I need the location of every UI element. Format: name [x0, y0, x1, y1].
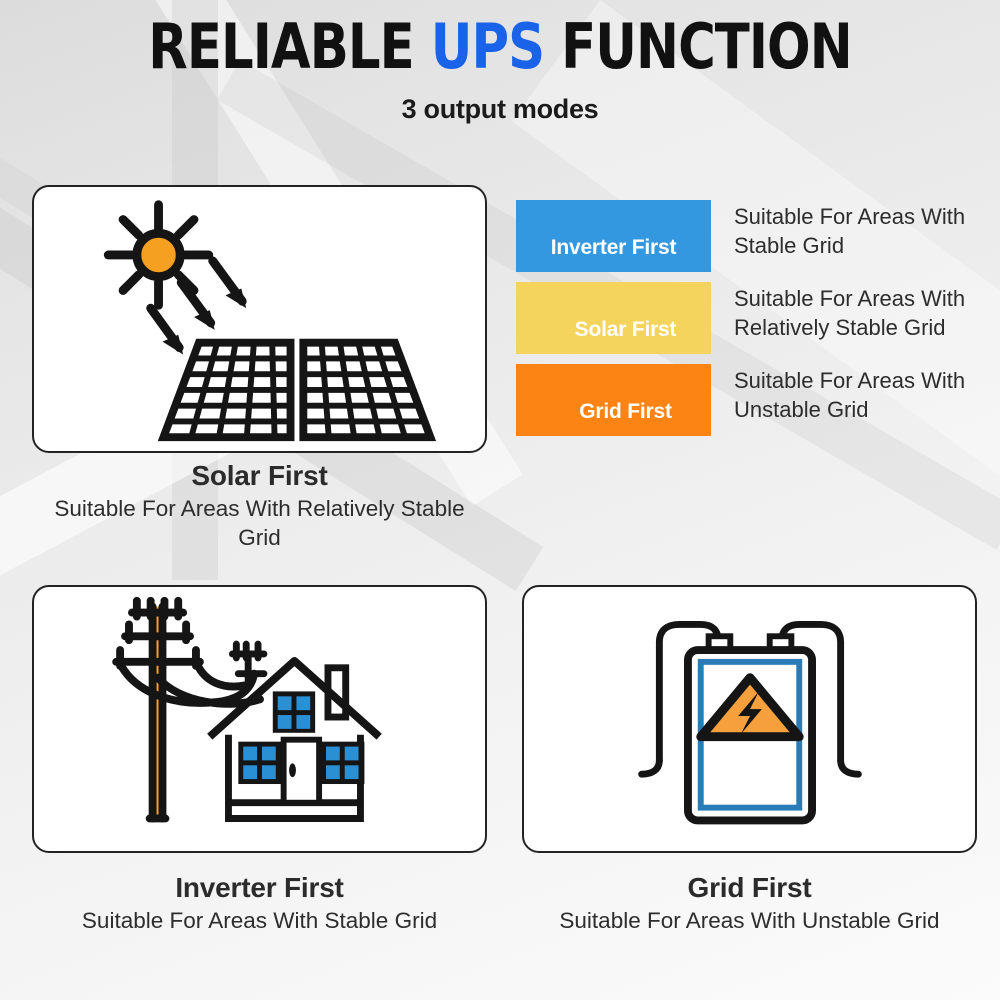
card-inverter-first[interactable]	[32, 585, 487, 853]
caption-title: Solar First	[32, 460, 487, 492]
legend-row: Grid First Suitable For Areas With Unsta…	[516, 364, 986, 436]
page-title-part2: FUNCTION	[544, 10, 852, 83]
transformer-box-with-high-voltage-warning-illustration	[524, 587, 975, 851]
page-title: RELIABLE UPS FUNCTION	[40, 16, 960, 78]
page-title-accent: UPS	[431, 10, 544, 83]
infographic-page: RELIABLE UPS FUNCTION 3 output modes	[0, 0, 1000, 1000]
caption-solar-first: Solar First Suitable For Areas With Rela…	[32, 460, 487, 553]
caption-title: Grid First	[522, 872, 977, 904]
card-grid-first[interactable]	[522, 585, 977, 853]
utility-pole	[116, 601, 200, 819]
solar-panel-with-sun-illustration	[34, 187, 485, 451]
caption-subtitle: Suitable For Areas With Relatively Stabl…	[32, 495, 487, 553]
page-subtitle: 3 output modes	[0, 94, 1000, 125]
door-handle	[289, 763, 296, 777]
sun-disc	[137, 233, 180, 276]
caption-grid-first: Grid First Suitable For Areas With Unsta…	[522, 872, 977, 936]
legend-description-solar-first: Suitable For Areas With Relatively Stabl…	[734, 284, 986, 343]
power-lines	[120, 664, 260, 704]
legend-description-grid-first: Suitable For Areas With Unstable Grid	[734, 366, 986, 425]
card-solar-first[interactable]	[32, 185, 487, 453]
house-with-utility-pole-illustration	[34, 587, 485, 851]
utility-pole-secondary-head	[232, 644, 264, 681]
caption-inverter-first: Inverter First Suitable For Areas With S…	[32, 872, 487, 936]
solar-panel-left	[163, 343, 290, 438]
legend-chip-inverter-first[interactable]: Inverter First	[516, 200, 711, 272]
caption-subtitle: Suitable For Areas With Unstable Grid	[522, 907, 977, 936]
legend-description-inverter-first: Suitable For Areas With Stable Grid	[734, 202, 986, 261]
header: RELIABLE UPS FUNCTION 3 output modes	[0, 0, 1000, 125]
legend-chip-solar-first[interactable]: Solar First	[516, 282, 711, 354]
caption-title: Inverter First	[32, 872, 487, 904]
caption-subtitle: Suitable For Areas With Stable Grid	[32, 907, 487, 936]
legend-chip-grid-first[interactable]: Grid First	[516, 364, 711, 436]
legend-output-modes: Inverter First Suitable For Areas With S…	[516, 200, 986, 436]
page-title-part1: RELIABLE	[148, 10, 431, 83]
legend-row: Solar First Suitable For Areas With Rela…	[516, 282, 986, 354]
legend-row: Inverter First Suitable For Areas With S…	[516, 200, 986, 272]
solar-panel-right	[303, 343, 430, 438]
